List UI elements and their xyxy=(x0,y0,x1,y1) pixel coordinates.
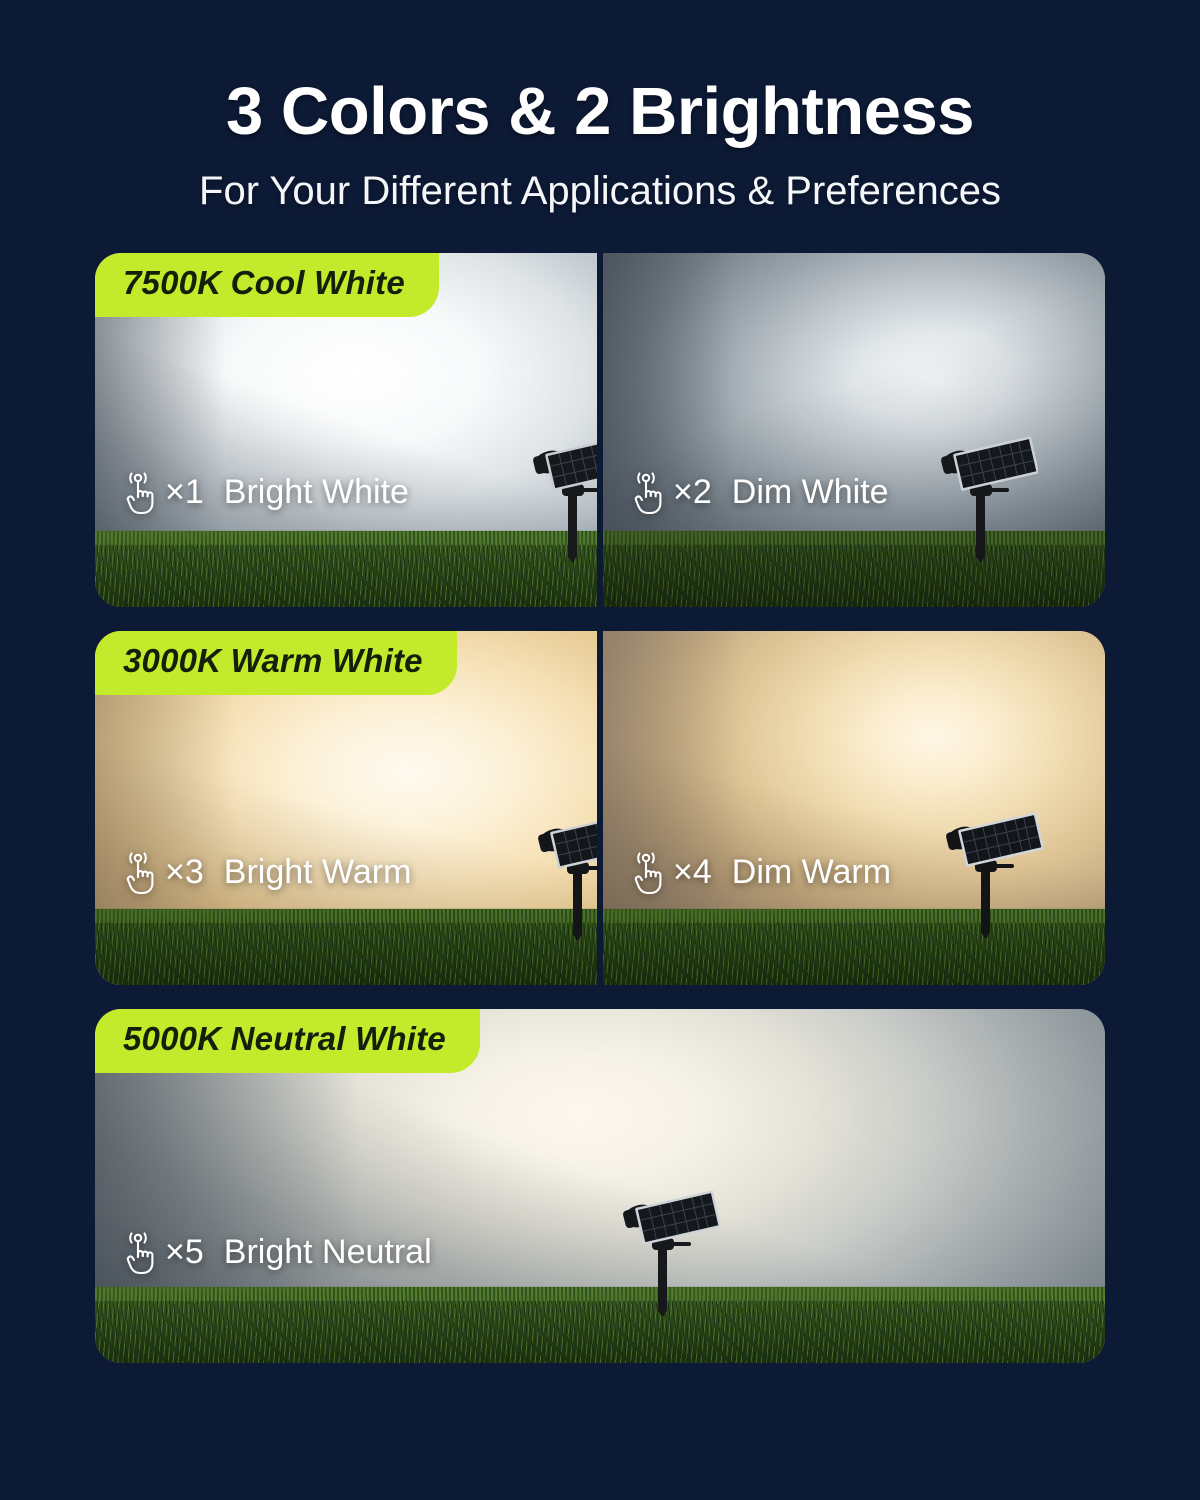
tap-count: ×5 xyxy=(165,1233,204,1272)
tap-hand-icon xyxy=(121,1229,163,1275)
mode-name: Bright Warm xyxy=(224,853,412,892)
tap-count: ×4 xyxy=(673,853,712,892)
mode-name: Dim White xyxy=(732,473,889,512)
solar-spotlight-figure xyxy=(520,432,597,567)
solar-spotlight-figure xyxy=(928,432,1038,567)
mode-panel-dim-warm[interactable]: ×4 Dim Warm xyxy=(603,631,1105,985)
mode-row-neutral-white: 5000K Neutral White xyxy=(95,1009,1105,1363)
tap-count: ×1 xyxy=(165,473,204,512)
tap-label-4: ×4 Dim Warm xyxy=(629,849,891,895)
tap-count: ×3 xyxy=(165,853,204,892)
badge-warm-white: 3000K Warm White xyxy=(95,631,457,695)
tap-hand-icon xyxy=(121,469,163,515)
tap-hand-icon xyxy=(629,849,671,895)
mode-panel-bright-warm[interactable]: 3000K Warm White xyxy=(95,631,597,985)
solar-spotlight-figure xyxy=(933,808,1043,943)
page-subtitle: For Your Different Applications & Prefer… xyxy=(0,171,1200,211)
mode-panel-bright-white[interactable]: 7500K Cool White xyxy=(95,253,597,607)
tap-hand-icon xyxy=(629,469,671,515)
solar-spotlight-figure xyxy=(610,1186,720,1321)
mode-row-warm-white: 3000K Warm White xyxy=(95,631,1105,985)
tap-label-1: ×1 Bright White xyxy=(121,469,409,515)
grass-strip xyxy=(95,909,597,985)
tap-hand-icon xyxy=(121,849,163,895)
badge-cool-white: 7500K Cool White xyxy=(95,253,439,317)
badge-neutral-white: 5000K Neutral White xyxy=(95,1009,480,1073)
tap-count: ×2 xyxy=(673,473,712,512)
mode-panel-bright-neutral[interactable]: 5000K Neutral White xyxy=(95,1009,1105,1363)
grass-strip xyxy=(95,1287,1105,1363)
page-title: 3 Colors & 2 Brightness xyxy=(0,78,1200,145)
tap-label-3: ×3 Bright Warm xyxy=(121,849,411,895)
mode-row-cool-white: 7500K Cool White xyxy=(95,253,1105,607)
mode-panel-dim-white[interactable]: ×2 Dim White xyxy=(603,253,1105,607)
header: 3 Colors & 2 Brightness For Your Differe… xyxy=(0,0,1200,211)
mode-name: Bright Neutral xyxy=(224,1233,432,1272)
mode-name: Dim Warm xyxy=(732,853,891,892)
mode-grid: 7500K Cool White xyxy=(0,253,1200,1363)
solar-spotlight-figure xyxy=(525,810,597,945)
tap-label-5: ×5 Bright Neutral xyxy=(121,1229,432,1275)
tap-label-2: ×2 Dim White xyxy=(629,469,889,515)
mode-name: Bright White xyxy=(224,473,409,512)
